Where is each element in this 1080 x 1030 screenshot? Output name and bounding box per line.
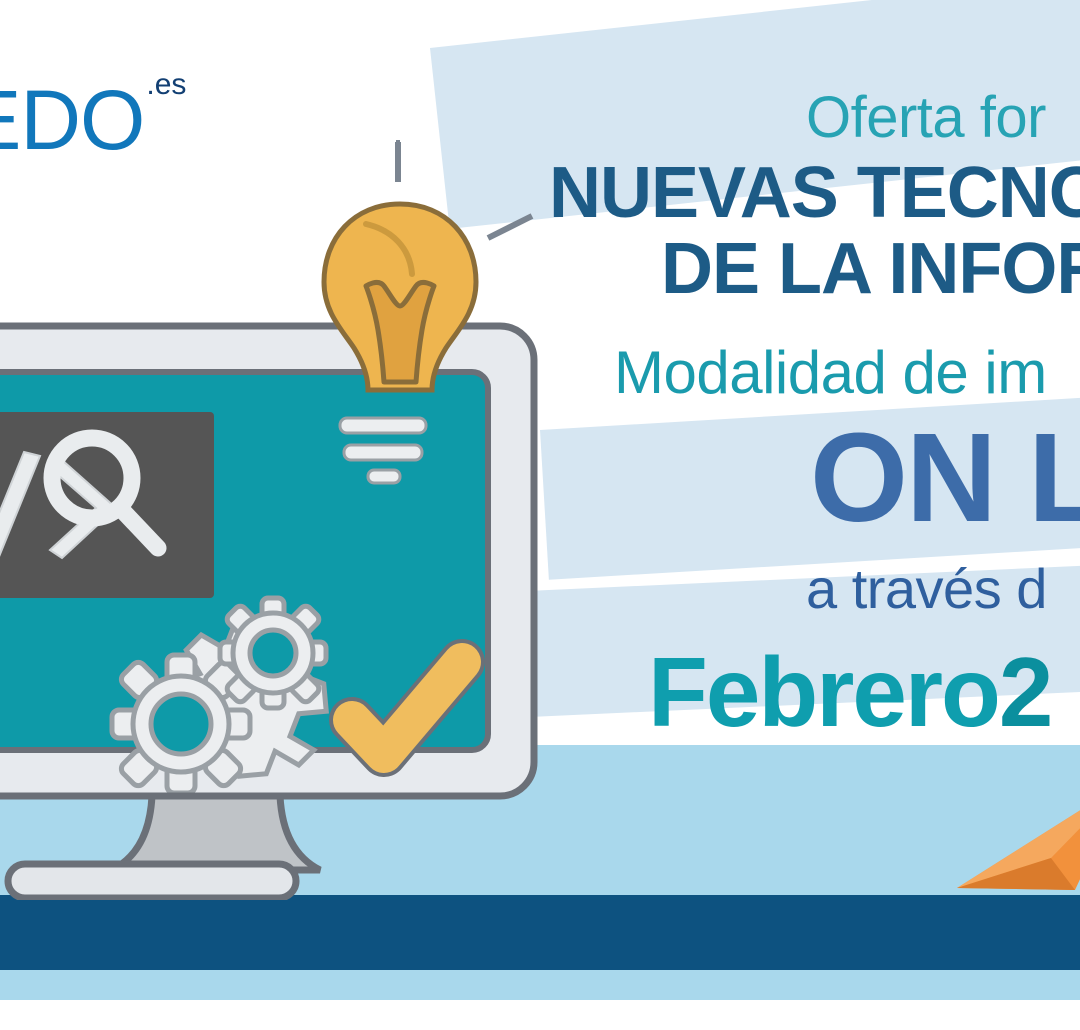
title-line-2: DE LA INFOR [661,228,1080,310]
monitor-stand-base [8,864,296,898]
title-line-1: NUEVAS TECNO [549,152,1080,234]
poster-canvas: VIEDO.es IENTO Oferta for NUEVAS TECNO D… [0,0,1080,1030]
eyebrow-text: Oferta for [806,84,1046,151]
footer-strip-white [0,1000,1080,1030]
footer-strip-light-blue-lower [0,970,1080,1000]
paper-plane-icon [955,780,1080,890]
logo-domain-suffix: .es [146,68,186,101]
date-text: Febrero2 [648,636,1051,749]
logo-wordmark: VIEDO.es [0,78,318,162]
logo-wordmark-text: VIEDO [0,73,144,167]
monitor-stand-neck [112,796,320,870]
logo-subtitle: IENTO [0,168,318,197]
oviedo-logo[interactable]: VIEDO.es IENTO [0,78,318,197]
logo-divider [396,140,400,182]
subtitle-text: Modalidad de im [614,338,1047,407]
date-month: Febrero [648,637,999,747]
mode-text: ON L [810,415,1080,541]
footer-strip-navy [0,895,1080,970]
date-year: 2 [999,637,1052,747]
via-text: a través d [806,556,1047,621]
